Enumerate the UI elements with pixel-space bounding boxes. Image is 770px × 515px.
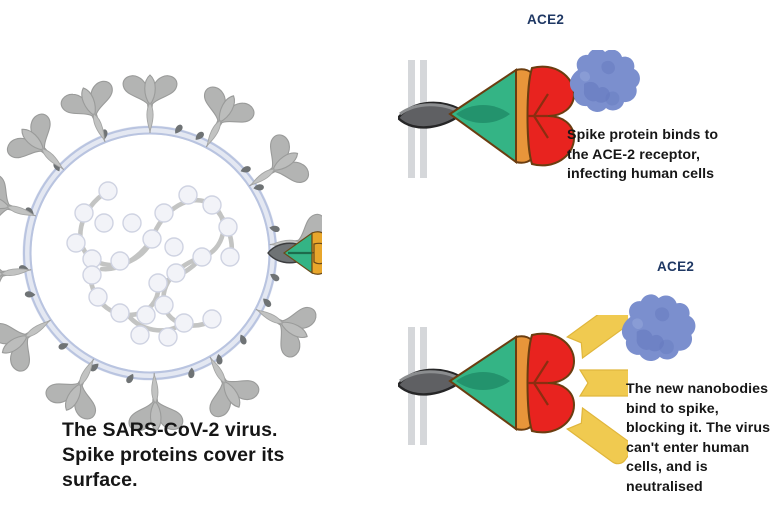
ace2-protein-blob-unbound xyxy=(618,275,733,385)
ace2-protein-blob xyxy=(570,50,640,112)
virus-caption: The SARS-CoV-2 virus. Spike proteins cov… xyxy=(62,418,312,493)
nanobody-lower xyxy=(567,408,628,467)
spike-rbd-red xyxy=(528,334,575,433)
virus-particle-diagram xyxy=(0,50,322,450)
illustration-canvas: The SARS-CoV-2 virus. Spike proteins cov… xyxy=(0,0,770,515)
ace2-label-top: ACE2 xyxy=(527,12,564,27)
blocking-caption: The new nanobodies bind to spike, blocki… xyxy=(626,380,770,497)
ace2-label-bottom: ACE2 xyxy=(657,259,694,274)
nanobody-blocking-diagram xyxy=(398,315,628,495)
spike-s2-green xyxy=(450,70,516,162)
virus-body xyxy=(0,75,322,432)
spike-s2-green xyxy=(450,337,516,429)
binding-caption: Spike protein binds to the ACE-2 recepto… xyxy=(567,126,767,185)
